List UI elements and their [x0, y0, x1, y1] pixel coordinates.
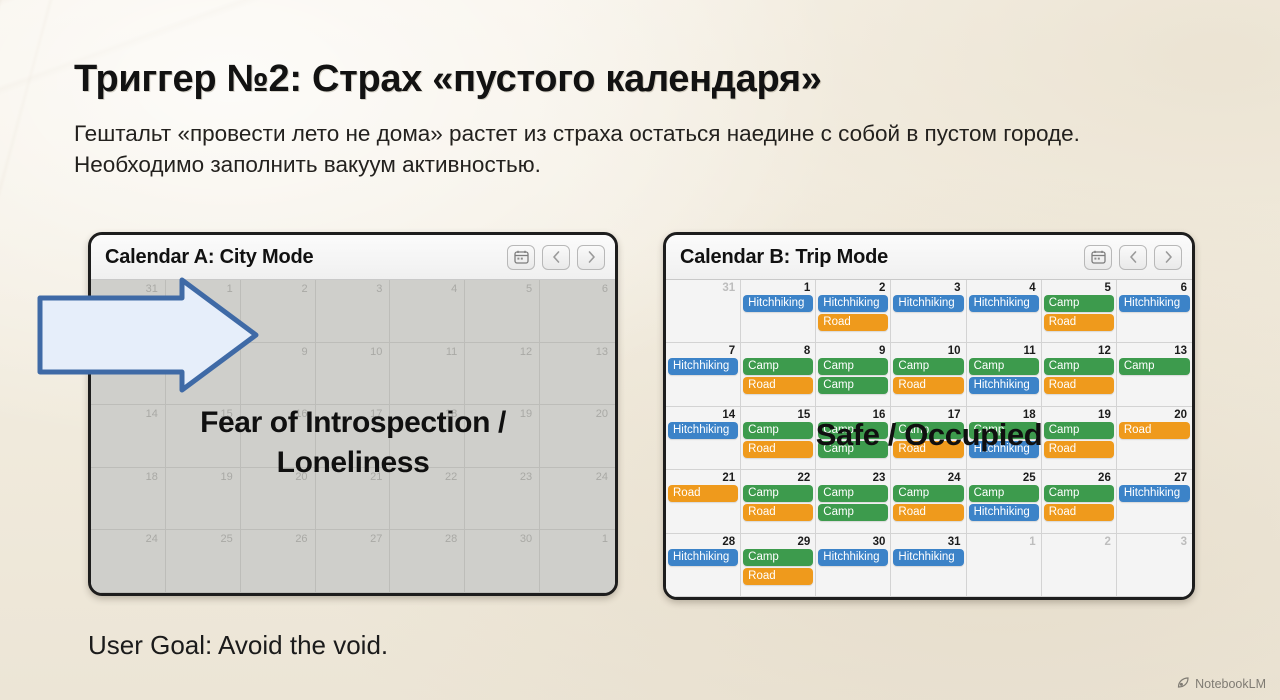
event-chip-road[interactable]: Road [743, 441, 813, 458]
day-number: 22 [743, 472, 813, 485]
event-chip-road[interactable]: Road [743, 504, 813, 521]
calendar-a-day-cell[interactable]: 23 [465, 468, 540, 531]
event-chip-road[interactable]: Road [893, 504, 963, 521]
notebooklm-logo-icon [1177, 676, 1190, 692]
day-number: 28 [445, 533, 457, 545]
day-number: 15 [743, 409, 813, 422]
day-number: 2 [1044, 536, 1114, 549]
day-number: 2 [301, 283, 307, 295]
event-chip-camp[interactable]: Camp [1044, 422, 1114, 439]
event-chip-hitchhiking[interactable]: Hitchhiking [668, 358, 738, 375]
event-chip-camp[interactable]: Camp [818, 358, 888, 375]
calendar-a-day-cell[interactable]: 18 [91, 468, 166, 531]
page-subtitle: Гештальт «провести лето не дома» растет … [74, 118, 1194, 180]
day-number: 7 [668, 345, 738, 358]
calendar-a-title: Calendar A: City Mode [105, 246, 507, 269]
day-number: 23 [818, 472, 888, 485]
event-chip-camp[interactable]: Camp [743, 422, 813, 439]
calendar-b-day-cell[interactable]: 7Hitchhiking [666, 343, 741, 406]
calendar-b-title: Calendar B: Trip Mode [680, 246, 1084, 269]
day-number: 2 [818, 282, 888, 295]
calendar-b-day-cell[interactable]: 24CampRoad [891, 470, 966, 533]
event-chip-camp[interactable]: Camp [818, 422, 888, 439]
calendar-b-day-cell[interactable]: 19CampRoad [1042, 407, 1117, 470]
event-chip-road[interactable]: Road [668, 485, 738, 502]
day-number: 5 [526, 283, 532, 295]
calendar-b-day-cell[interactable]: 3 [1117, 534, 1192, 597]
day-number: 13 [596, 346, 608, 358]
event-chip-camp[interactable]: Camp [743, 358, 813, 375]
day-number: 21 [668, 472, 738, 485]
day-number: 13 [1119, 345, 1190, 358]
next-month-button[interactable] [1154, 245, 1182, 270]
calendar-b-day-cell[interactable]: 23CampCamp [816, 470, 891, 533]
event-chip-camp[interactable]: Camp [969, 422, 1039, 439]
day-number: 21 [370, 471, 382, 483]
calendar-a-day-cell[interactable]: 4 [390, 280, 465, 343]
event-chip-road[interactable]: Road [818, 314, 888, 331]
event-chip-hitchhiking[interactable]: Hitchhiking [818, 295, 888, 312]
day-number: 14 [146, 408, 158, 420]
calendar-icon-button[interactable] [507, 245, 535, 270]
day-number: 31 [893, 536, 963, 549]
calendar-b-day-cell[interactable]: 29CampRoad [741, 534, 816, 597]
day-number: 27 [1119, 472, 1190, 485]
event-chip-hitchhiking[interactable]: Hitchhiking [668, 549, 738, 566]
calendar-icon [1091, 250, 1106, 264]
calendar-b-day-cell[interactable]: 3Hitchhiking [891, 280, 966, 343]
calendar-b-day-cell[interactable]: 30Hitchhiking [816, 534, 891, 597]
event-chip-road[interactable]: Road [1119, 422, 1190, 439]
calendar-a-day-cell[interactable]: 28 [390, 530, 465, 593]
calendar-b-day-cell[interactable]: 11CampHitchhiking [967, 343, 1042, 406]
event-chip-hitchhiking[interactable]: Hitchhiking [818, 549, 888, 566]
calendar-a-day-cell[interactable]: 15 [166, 405, 241, 468]
calendar-b-day-cell[interactable]: 15CampRoad [741, 407, 816, 470]
event-chip-camp[interactable]: Camp [969, 358, 1039, 375]
calendar-b-day-cell[interactable]: 27Hitchhiking [1117, 470, 1192, 533]
calendar-a-day-cell[interactable]: 20 [540, 405, 615, 468]
event-chip-road[interactable]: Road [1044, 504, 1114, 521]
day-number: 16 [818, 409, 888, 422]
calendar-b-day-cell[interactable]: 21Road [666, 470, 741, 533]
day-number: 24 [146, 533, 158, 545]
calendar-a-day-cell[interactable]: 11 [390, 343, 465, 406]
day-number: 10 [893, 345, 963, 358]
day-number: 17 [370, 408, 382, 420]
day-number: 9 [818, 345, 888, 358]
prev-month-button[interactable] [542, 245, 570, 270]
page-title: Триггер №2: Страх «пустого календаря» [74, 58, 822, 101]
day-number: 25 [220, 533, 232, 545]
calendar-a-day-cell[interactable]: 19 [465, 405, 540, 468]
calendar-b-grid: 311Hitchhiking2HitchhikingRoad3Hitchhiki… [666, 280, 1192, 597]
day-number: 8 [743, 345, 813, 358]
event-chip-camp[interactable]: Camp [1044, 358, 1114, 375]
event-chip-camp[interactable]: Camp [1119, 358, 1190, 375]
calendar-b-day-cell[interactable]: 12CampRoad [1042, 343, 1117, 406]
event-chip-road[interactable]: Road [743, 377, 813, 394]
event-chip-road[interactable]: Road [743, 568, 813, 585]
day-number: 30 [818, 536, 888, 549]
day-number: 14 [668, 409, 738, 422]
day-number: 18 [969, 409, 1039, 422]
chevron-left-icon [552, 250, 561, 264]
day-number: 20 [1119, 409, 1190, 422]
calendar-a-day-cell[interactable]: 22 [390, 468, 465, 531]
event-chip-road[interactable]: Road [1044, 314, 1114, 331]
calendar-a-day-cell[interactable]: 19 [166, 468, 241, 531]
event-chip-camp[interactable]: Camp [893, 485, 963, 502]
next-month-button[interactable] [577, 245, 605, 270]
calendar-b-day-cell[interactable]: 4Hitchhiking [967, 280, 1042, 343]
event-chip-hitchhiking[interactable]: Hitchhiking [969, 377, 1039, 394]
day-number: 20 [295, 471, 307, 483]
calendar-a-header-buttons [507, 245, 605, 270]
calendar-b-header-buttons [1084, 245, 1182, 270]
event-chip-hitchhiking[interactable]: Hitchhiking [969, 441, 1039, 458]
event-chip-hitchhiking[interactable]: Hitchhiking [969, 504, 1039, 521]
day-number: 18 [445, 408, 457, 420]
day-number: 3 [376, 283, 382, 295]
day-number: 26 [1044, 472, 1114, 485]
calendar-b-day-cell[interactable]: 6Hitchhiking [1117, 280, 1192, 343]
calendar-b-day-cell[interactable]: 14Hitchhiking [666, 407, 741, 470]
day-number: 31 [668, 282, 738, 295]
day-number: 24 [893, 472, 963, 485]
day-number: 16 [295, 408, 307, 420]
calendar-a-day-cell[interactable]: 25 [166, 530, 241, 593]
event-chip-camp[interactable]: Camp [743, 549, 813, 566]
calendar-b-header: Calendar B: Trip Mode [666, 235, 1192, 280]
day-number: 6 [602, 283, 608, 295]
day-number: 11 [446, 346, 457, 358]
event-chip-road[interactable]: Road [1044, 441, 1114, 458]
event-chip-camp[interactable]: Camp [969, 485, 1039, 502]
calendar-b-day-cell[interactable]: 20Road [1117, 407, 1192, 470]
event-chip-hitchhiking[interactable]: Hitchhiking [1119, 485, 1190, 502]
event-chip-hitchhiking[interactable]: Hitchhiking [893, 295, 963, 312]
event-chip-hitchhiking[interactable]: Hitchhiking [743, 295, 813, 312]
day-number: 22 [445, 471, 457, 483]
event-chip-camp[interactable]: Camp [1044, 295, 1114, 312]
event-chip-road[interactable]: Road [893, 377, 963, 394]
calendar-b-day-cell[interactable]: 28Hitchhiking [666, 534, 741, 597]
calendar-b-day-cell[interactable]: 8CampRoad [741, 343, 816, 406]
calendar-icon-button[interactable] [1084, 245, 1112, 270]
calendar-b-day-cell[interactable]: 31 [666, 280, 741, 343]
event-chip-camp[interactable]: Camp [1044, 485, 1114, 502]
day-number: 4 [969, 282, 1039, 295]
day-number: 6 [1119, 282, 1190, 295]
day-number: 17 [893, 409, 963, 422]
pointer-arrow-icon [36, 276, 260, 394]
calendar-a-day-cell[interactable]: 10 [316, 343, 391, 406]
day-number: 29 [743, 536, 813, 549]
calendar-b-day-cell[interactable]: 9CampCamp [816, 343, 891, 406]
calendar-b-day-cell[interactable]: 1Hitchhiking [741, 280, 816, 343]
day-number: 23 [520, 471, 532, 483]
calendar-b-day-cell[interactable]: 26CampRoad [1042, 470, 1117, 533]
calendar-b-day-cell[interactable]: 10CampRoad [891, 343, 966, 406]
calendar-b-day-cell[interactable]: 2HitchhikingRoad [816, 280, 891, 343]
calendar-b-day-cell[interactable]: 17CampRoad [891, 407, 966, 470]
calendar-a-day-cell[interactable]: 16 [241, 405, 316, 468]
calendar-a-day-cell[interactable]: 26 [241, 530, 316, 593]
calendar-a-day-cell[interactable]: 27 [316, 530, 391, 593]
calendar-a-day-cell[interactable]: 3 [316, 280, 391, 343]
calendar-b-day-cell[interactable]: 5CampRoad [1042, 280, 1117, 343]
day-number: 4 [451, 283, 457, 295]
day-number: 19 [220, 471, 232, 483]
calendar-a-day-cell[interactable]: 12 [465, 343, 540, 406]
notebooklm-watermark: NotebookLM [1177, 676, 1266, 692]
calendar-a-day-cell[interactable]: 20 [241, 468, 316, 531]
prev-month-button[interactable] [1119, 245, 1147, 270]
calendar-a-header: Calendar A: City Mode [91, 235, 615, 280]
calendar-b-day-cell[interactable]: 25CampHitchhiking [967, 470, 1042, 533]
event-chip-hitchhiking[interactable]: Hitchhiking [893, 549, 963, 566]
day-number: 11 [969, 345, 1039, 358]
day-number: 27 [370, 533, 382, 545]
day-number: 30 [520, 533, 532, 545]
event-chip-camp[interactable]: Camp [818, 504, 888, 521]
day-number: 12 [520, 346, 532, 358]
calendar-b-day-cell[interactable]: 13Camp [1117, 343, 1192, 406]
day-number: 5 [1044, 282, 1114, 295]
calendar-a-day-cell[interactable]: 17 [316, 405, 391, 468]
user-goal-text: User Goal: Avoid the void. [88, 630, 388, 661]
day-number: 20 [596, 408, 608, 420]
event-chip-hitchhiking[interactable]: Hitchhiking [969, 295, 1039, 312]
calendar-a-day-cell[interactable]: 5 [465, 280, 540, 343]
day-number: 28 [668, 536, 738, 549]
calendar-b-day-cell[interactable]: 18CampHitchhiking [967, 407, 1042, 470]
day-number: 15 [220, 408, 232, 420]
calendar-a-day-cell[interactable]: 14 [91, 405, 166, 468]
event-chip-camp[interactable]: Camp [818, 441, 888, 458]
event-chip-camp[interactable]: Camp [818, 485, 888, 502]
chevron-left-icon [1129, 250, 1138, 264]
day-number: 3 [1119, 536, 1190, 549]
calendar-a-day-cell[interactable]: 24 [91, 530, 166, 593]
event-chip-camp[interactable]: Camp [893, 358, 963, 375]
watermark-label: NotebookLM [1195, 677, 1266, 691]
day-number: 1 [969, 536, 1039, 549]
calendar-a-day-cell[interactable]: 21 [316, 468, 391, 531]
day-number: 19 [1044, 409, 1114, 422]
event-chip-camp[interactable]: Camp [893, 422, 963, 439]
calendar-a-day-cell[interactable]: 13 [540, 343, 615, 406]
event-chip-camp[interactable]: Camp [818, 377, 888, 394]
calendar-icon [514, 250, 529, 264]
calendar-a-day-cell[interactable]: 30 [465, 530, 540, 593]
day-number: 24 [596, 471, 608, 483]
day-number: 25 [969, 472, 1039, 485]
chevron-right-icon [1164, 250, 1173, 264]
calendar-a-day-cell[interactable]: 1 [540, 530, 615, 593]
event-chip-road[interactable]: Road [1044, 377, 1114, 394]
day-number: 10 [370, 346, 382, 358]
day-number: 1 [743, 282, 813, 295]
day-number: 12 [1044, 345, 1114, 358]
event-chip-road[interactable]: Road [893, 441, 963, 458]
chevron-right-icon [587, 250, 596, 264]
event-chip-camp[interactable]: Camp [743, 485, 813, 502]
calendar-a-day-cell[interactable]: 18 [390, 405, 465, 468]
calendar-b-day-cell[interactable]: 1 [967, 534, 1042, 597]
calendar-b-day-cell[interactable]: 31Hitchhiking [891, 534, 966, 597]
day-number: 19 [520, 408, 532, 420]
day-number: 3 [893, 282, 963, 295]
day-number: 26 [295, 533, 307, 545]
calendar-a-day-cell[interactable]: 6 [540, 280, 615, 343]
calendar-b-day-cell[interactable]: 22CampRoad [741, 470, 816, 533]
event-chip-hitchhiking[interactable]: Hitchhiking [668, 422, 738, 439]
calendar-b-day-cell[interactable]: 16CampCamp [816, 407, 891, 470]
day-number: 1 [602, 533, 608, 545]
day-number: 18 [146, 471, 158, 483]
calendar-b-panel: Calendar B: Trip Mode [663, 232, 1195, 600]
calendar-b-day-cell[interactable]: 2 [1042, 534, 1117, 597]
day-number: 9 [301, 346, 307, 358]
calendar-a-day-cell[interactable]: 24 [540, 468, 615, 531]
event-chip-hitchhiking[interactable]: Hitchhiking [1119, 295, 1190, 312]
